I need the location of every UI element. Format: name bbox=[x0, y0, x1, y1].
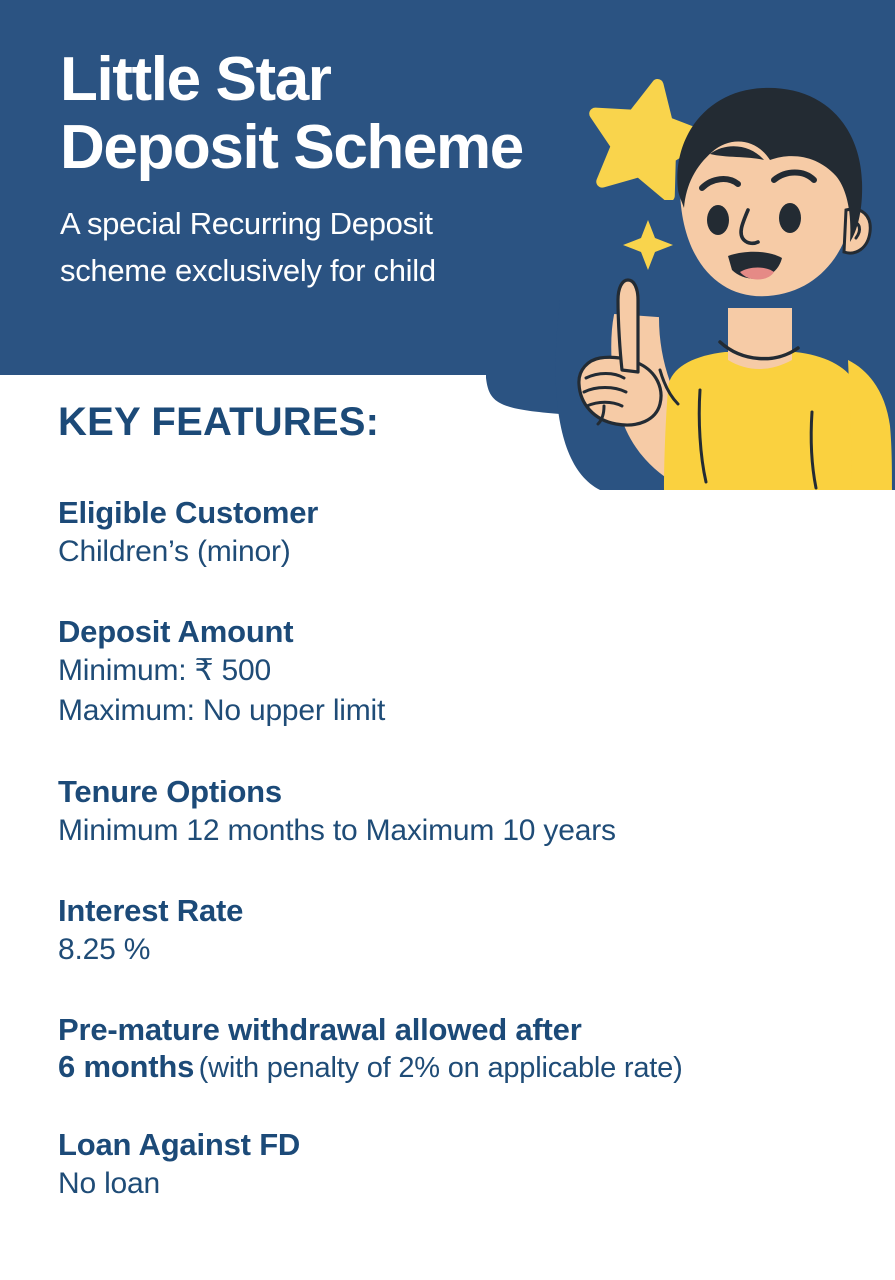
feature-value-maximum: Maximum: No upper limit bbox=[58, 691, 837, 731]
page-subtitle-line-1: A special Recurring Deposit bbox=[60, 206, 433, 241]
key-features-section: KEY FEATURES: Eligible Customer Children… bbox=[0, 400, 895, 1204]
premature-withdrawal-note: (with penalty of 2% on applicable rate) bbox=[199, 1052, 683, 1084]
premature-withdrawal-line-2: 6 months (with penalty of 2% on applicab… bbox=[58, 1049, 837, 1085]
sparkle-icon bbox=[623, 220, 673, 270]
feature-deposit-amount: Deposit Amount Minimum: ₹ 500 Maximum: N… bbox=[58, 612, 837, 731]
feature-value: Minimum 12 months to Maximum 10 years bbox=[58, 811, 837, 851]
page-subtitle-line-2: scheme exclusively for child bbox=[60, 253, 436, 288]
feature-label: Deposit Amount bbox=[58, 612, 837, 651]
feature-label: Loan Against FD bbox=[58, 1125, 837, 1164]
feature-value: Children’s (minor) bbox=[58, 532, 837, 572]
header-text-block: Little Star Deposit Scheme A special Rec… bbox=[60, 48, 620, 294]
page-title-line-2: Deposit Scheme bbox=[60, 116, 620, 180]
page-subtitle: A special Recurring Deposit scheme exclu… bbox=[60, 200, 620, 294]
feature-label: Interest Rate bbox=[58, 891, 837, 930]
feature-value: 8.25 % bbox=[58, 930, 837, 970]
feature-tenure-options: Tenure Options Minimum 12 months to Maxi… bbox=[58, 772, 837, 851]
feature-premature-withdrawal: Pre-mature withdrawal allowed after 6 mo… bbox=[58, 1010, 837, 1085]
premature-withdrawal-period: 6 months bbox=[58, 1049, 194, 1084]
premature-withdrawal-line-1: Pre-mature withdrawal allowed after bbox=[58, 1010, 837, 1049]
eye-right bbox=[779, 203, 801, 233]
feature-value: No loan bbox=[58, 1164, 837, 1204]
page-title-line-1: Little Star bbox=[60, 48, 620, 112]
feature-label: Tenure Options bbox=[58, 772, 837, 811]
feature-loan-against-fd: Loan Against FD No loan bbox=[58, 1125, 837, 1204]
feature-interest-rate: Interest Rate 8.25 % bbox=[58, 891, 837, 970]
eye-left bbox=[707, 205, 729, 235]
feature-value-minimum: Minimum: ₹ 500 bbox=[58, 651, 837, 691]
feature-label: Eligible Customer bbox=[58, 493, 837, 532]
feature-eligible-customer: Eligible Customer Children’s (minor) bbox=[58, 493, 837, 572]
